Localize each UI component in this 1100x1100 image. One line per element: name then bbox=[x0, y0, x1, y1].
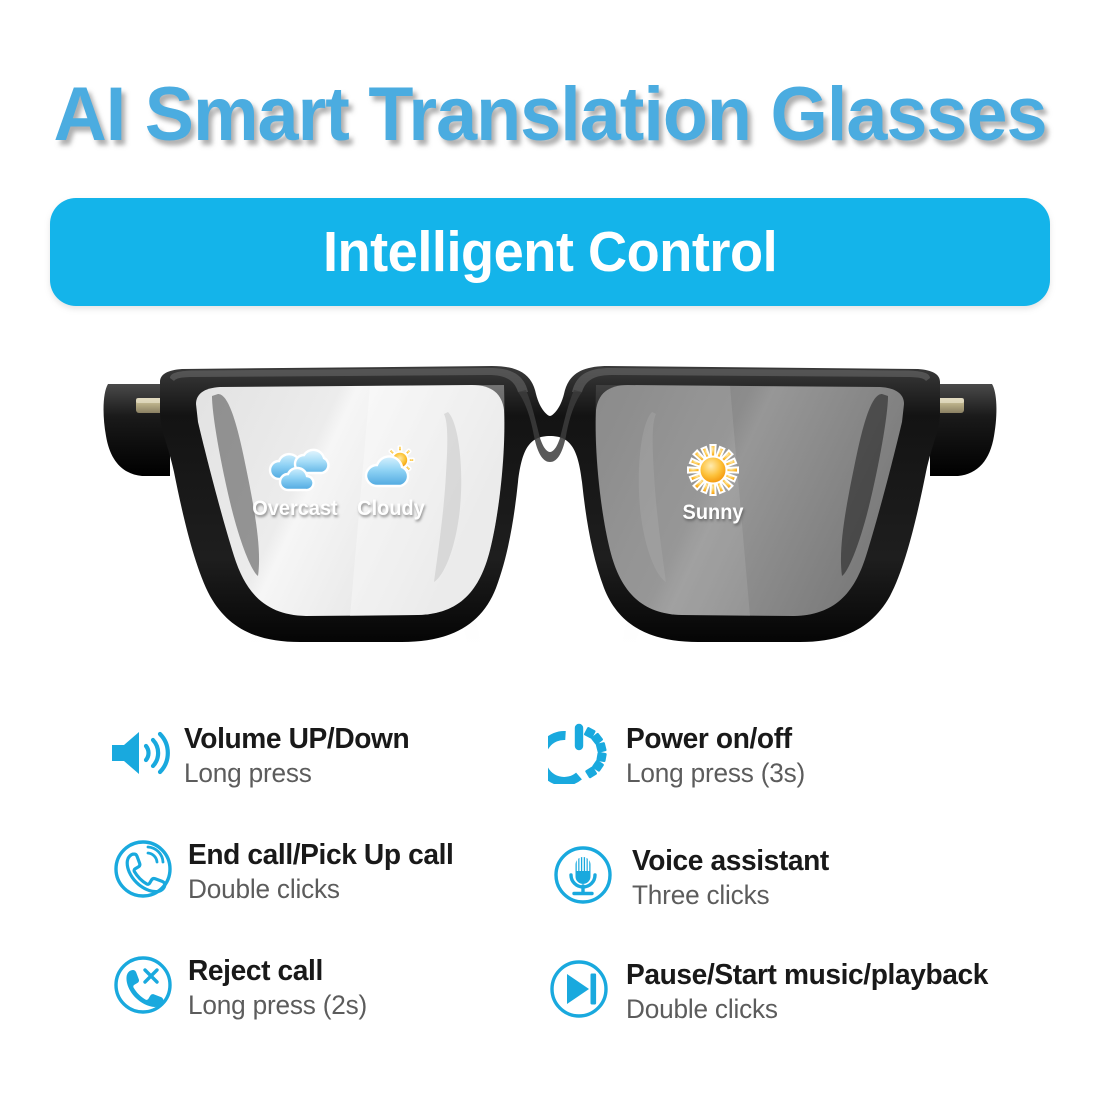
feature-item-voice-assistant[interactable]: Voice assistant Three clicks bbox=[552, 844, 835, 912]
power-button-icon bbox=[548, 722, 610, 784]
feature-text-power: Power on/off Long press (3s) bbox=[626, 722, 811, 790]
feature-text-volume: Volume UP/Down Long press bbox=[184, 722, 416, 790]
phone-reject-icon bbox=[112, 954, 174, 1016]
feature-title-volume: Volume UP/Down bbox=[184, 723, 409, 756]
microphone-icon bbox=[552, 844, 614, 906]
feature-item-volume[interactable]: Volume UP/Down Long press bbox=[108, 722, 416, 790]
feature-text-music: Pause/Start music/playback Double clicks bbox=[626, 958, 999, 1026]
feature-action-power: Long press (3s) bbox=[626, 756, 805, 790]
speaker-volume-icon bbox=[108, 722, 170, 784]
intelligent-control-banner: Intelligent Control bbox=[50, 198, 1050, 306]
page-title: AI Smart Translation Glasses bbox=[17, 72, 1084, 158]
glasses-illustration bbox=[100, 352, 1000, 682]
feature-title-power: Power on/off bbox=[626, 723, 805, 756]
feature-title-music: Pause/Start music/playback bbox=[626, 959, 988, 992]
feature-action-voice-assistant: Three clicks bbox=[632, 878, 829, 912]
play-skip-icon bbox=[548, 958, 610, 1020]
phone-ring-icon bbox=[112, 838, 174, 900]
feature-text-reject-call: Reject call Long press (2s) bbox=[188, 954, 373, 1022]
feature-title-end-call: End call/Pick Up call bbox=[188, 839, 453, 872]
banner-label: Intelligent Control bbox=[323, 222, 777, 282]
feature-action-volume: Long press bbox=[184, 756, 409, 790]
feature-action-reject-call: Long press (2s) bbox=[188, 988, 367, 1022]
feature-title-voice-assistant: Voice assistant bbox=[632, 845, 829, 878]
feature-list: Volume UP/Down Long press Powe bbox=[0, 714, 1100, 1064]
feature-text-voice-assistant: Voice assistant Three clicks bbox=[632, 844, 835, 912]
feature-item-music[interactable]: Pause/Start music/playback Double clicks bbox=[548, 958, 999, 1026]
feature-title-reject-call: Reject call bbox=[188, 955, 367, 988]
smart-glasses-image: Overcast bbox=[100, 352, 1000, 682]
feature-action-music: Double clicks bbox=[626, 992, 988, 1026]
feature-item-power[interactable]: Power on/off Long press (3s) bbox=[548, 722, 811, 790]
feature-action-end-call: Double clicks bbox=[188, 872, 453, 906]
feature-text-end-call: End call/Pick Up call Double clicks bbox=[188, 838, 462, 906]
feature-item-reject-call[interactable]: Reject call Long press (2s) bbox=[112, 954, 373, 1022]
feature-item-end-call[interactable]: End call/Pick Up call Double clicks bbox=[112, 838, 462, 906]
